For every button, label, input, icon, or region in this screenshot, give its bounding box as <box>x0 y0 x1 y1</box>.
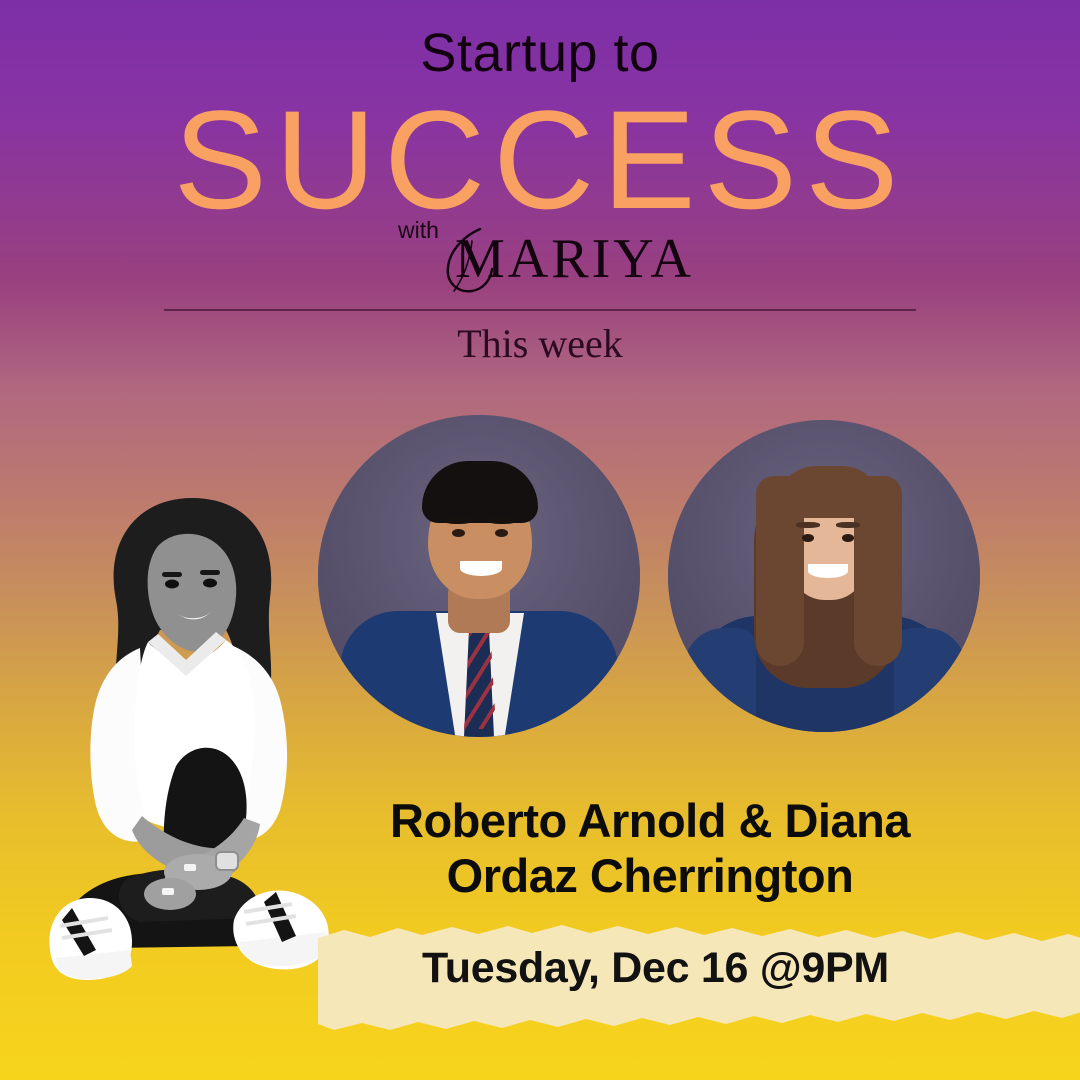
portrait-hair-top <box>776 466 882 518</box>
portrait-brow-right <box>836 522 860 528</box>
promo-poster: Startup to SUCCESS with MARIYA This week <box>0 0 1080 1080</box>
speaker-names-line1: Roberto Arnold & Diana <box>330 793 970 848</box>
title-kicker: Startup to <box>0 26 1080 80</box>
portrait-smile <box>460 561 502 576</box>
portrait-sleeve-left <box>684 628 756 732</box>
portrait-brow-left <box>796 522 820 528</box>
brand-logo: with MARIYA <box>0 213 1080 303</box>
speaker-portrait-diana <box>668 420 980 732</box>
portrait-eye-right <box>495 529 508 537</box>
portrait-brow-right <box>488 517 516 524</box>
speaker-names-line2: Ordaz Cherrington <box>330 848 970 903</box>
poster-header: Startup to SUCCESS <box>0 0 1080 233</box>
header-divider <box>164 309 916 311</box>
portrait-smile <box>808 564 848 578</box>
datetime-banner: Tuesday, Dec 16 @9PM <box>318 918 1080 1030</box>
portrait-eye-right <box>842 534 854 542</box>
portrait-hair <box>422 461 538 523</box>
section-label: This week <box>0 320 1080 367</box>
portrait-brow-left <box>444 517 472 524</box>
brand-name: MARIYA <box>455 231 694 287</box>
title-main: SUCCESS <box>0 86 1080 233</box>
speaker-names: Roberto Arnold & Diana Ordaz Cherrington <box>330 793 970 904</box>
brand-with-label: with <box>398 217 439 244</box>
portrait-eye-left <box>802 534 814 542</box>
portrait-sleeve-right <box>894 628 966 732</box>
portrait-eye-left <box>452 529 465 537</box>
datetime-text: Tuesday, Dec 16 @9PM <box>318 944 1080 993</box>
